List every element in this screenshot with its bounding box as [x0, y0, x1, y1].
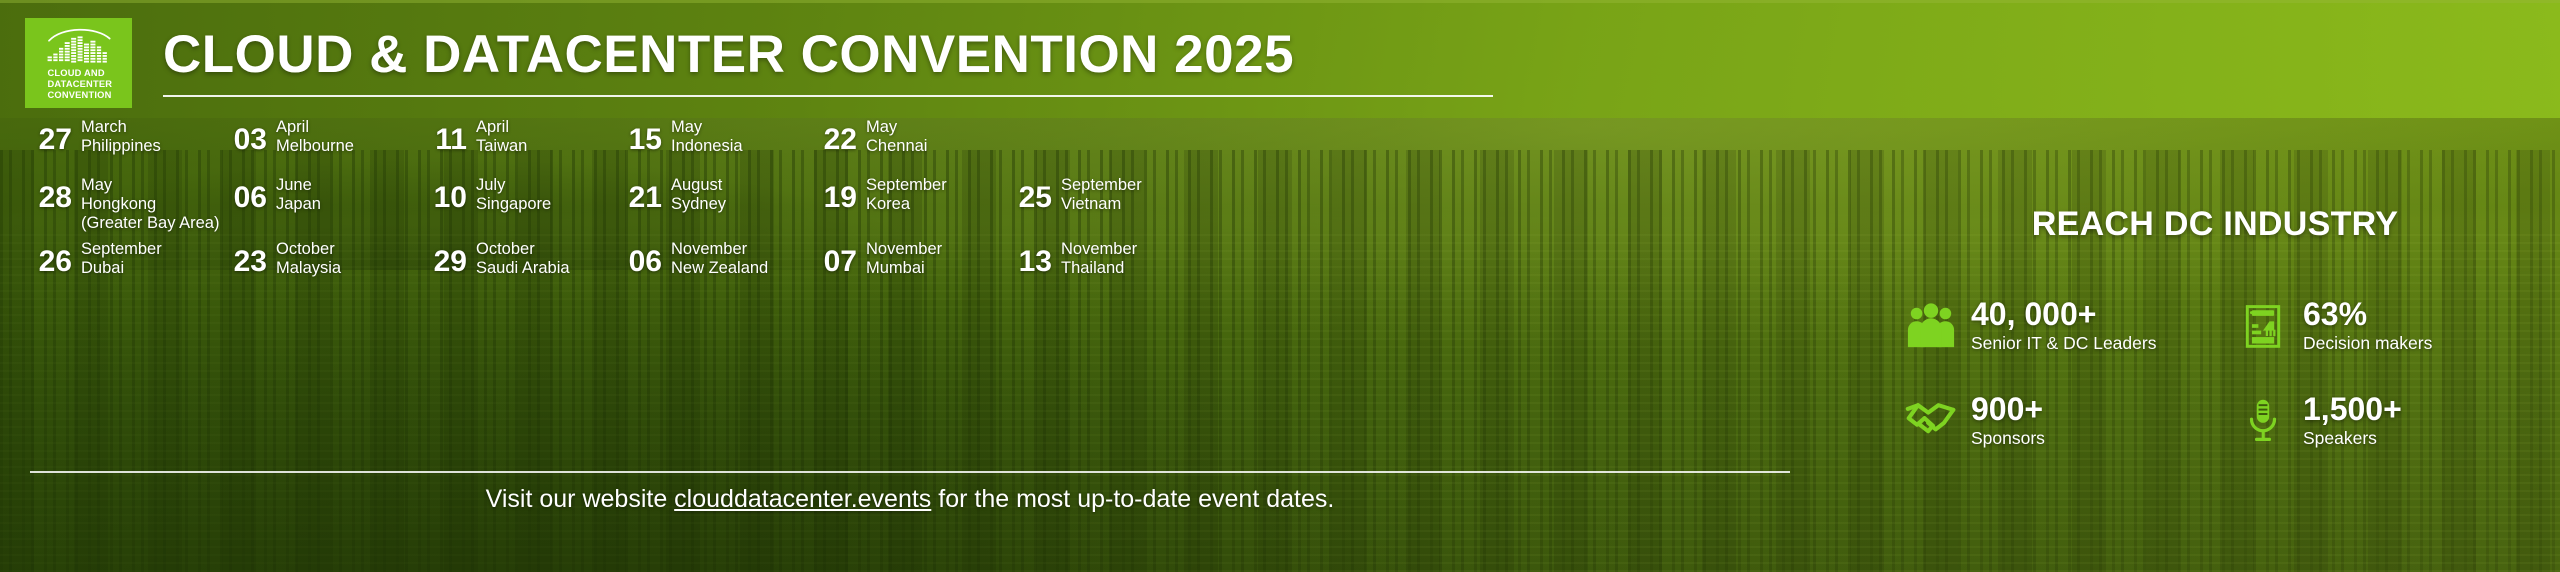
- event-city: Indonesia: [671, 137, 743, 156]
- event-day: 15: [620, 118, 662, 155]
- event-date-item: 19SeptemberKorea: [815, 176, 947, 214]
- event-date-item: 27MarchPhilippines: [30, 118, 161, 156]
- reach-stat-label: Senior IT & DC Leaders: [1971, 334, 2156, 353]
- event-city: Sydney: [671, 195, 726, 214]
- event-location: AprilTaiwan: [476, 118, 527, 156]
- event-date-item: 03AprilMelbourne: [225, 118, 354, 156]
- footer-note: Visit our website clouddatacenter.events…: [30, 484, 1790, 516]
- event-city: Thailand: [1061, 259, 1137, 278]
- event-day: 28: [30, 176, 72, 213]
- event-day: 10: [425, 176, 467, 213]
- people-group-icon: [1905, 300, 1957, 352]
- event-month: October: [276, 240, 341, 259]
- brand-logo-text: CLOUD AND DATACENTER CONVENTION: [48, 68, 110, 101]
- event-day: 07: [815, 240, 857, 277]
- footer-divider: [30, 471, 1790, 473]
- reach-stat: 40, 000+Senior IT & DC Leaders: [1905, 278, 2237, 373]
- event-month: November: [866, 240, 942, 259]
- event-month: April: [276, 118, 354, 137]
- event-month: June: [276, 176, 321, 195]
- event-day: 27: [30, 118, 72, 155]
- reach-stat: 63%Decision makers: [2237, 278, 2545, 373]
- event-month: October: [476, 240, 570, 259]
- event-date-item: 06NovemberNew Zealand: [620, 240, 768, 278]
- event-city: Saudi Arabia: [476, 259, 570, 278]
- event-day: 11: [425, 118, 467, 155]
- event-date-item: 23OctoberMalaysia: [225, 240, 341, 278]
- page-title: CLOUD & DATACENTER CONVENTION 2025: [163, 24, 1294, 85]
- logo-line-3: CONVENTION: [48, 90, 112, 100]
- event-location: SeptemberDubai: [81, 240, 162, 278]
- event-date-item: 29OctoberSaudi Arabia: [425, 240, 570, 278]
- event-month: August: [671, 176, 726, 195]
- event-location: SeptemberVietnam: [1061, 176, 1142, 214]
- event-location: NovemberThailand: [1061, 240, 1137, 278]
- reach-stat-number: 63%: [2303, 297, 2432, 332]
- event-month: November: [671, 240, 768, 259]
- event-city: Philippines: [81, 137, 161, 156]
- title-divider: [163, 95, 1493, 97]
- event-month: May: [81, 176, 219, 195]
- event-city: Dubai: [81, 259, 162, 278]
- event-city: Korea: [866, 195, 947, 214]
- event-city: Hongkong: [81, 195, 219, 214]
- event-day: 06: [225, 176, 267, 213]
- event-date-item: 28MayHongkong(Greater Bay Area): [30, 176, 219, 233]
- event-location: AugustSydney: [671, 176, 726, 214]
- event-day: 29: [425, 240, 467, 277]
- event-month: July: [476, 176, 551, 195]
- event-date-item: 10JulySingapore: [425, 176, 551, 214]
- event-city: Taiwan: [476, 137, 527, 156]
- event-city: Melbourne: [276, 137, 354, 156]
- event-city: Mumbai: [866, 259, 942, 278]
- reach-stat-number: 900+: [1971, 392, 2045, 427]
- event-location: OctoberMalaysia: [276, 240, 341, 278]
- event-city: Japan: [276, 195, 321, 214]
- reach-stats: 40, 000+Senior IT & DC Leaders63%Decisio…: [1905, 278, 2545, 468]
- event-city: Singapore: [476, 195, 551, 214]
- event-day: 06: [620, 240, 662, 277]
- microphone-icon: [2237, 395, 2289, 447]
- brand-logo[interactable]: CLOUD AND DATACENTER CONVENTION: [25, 18, 132, 108]
- event-location: JuneJapan: [276, 176, 321, 214]
- event-day: 25: [1010, 176, 1052, 213]
- event-day: 03: [225, 118, 267, 155]
- reach-stat-text: 900+Sponsors: [1971, 392, 2045, 448]
- event-month: April: [476, 118, 527, 137]
- event-month: November: [1061, 240, 1137, 259]
- event-location: JulySingapore: [476, 176, 551, 214]
- event-date-item: 15MayIndonesia: [620, 118, 743, 156]
- event-location: AprilMelbourne: [276, 118, 354, 156]
- event-date-item: 25SeptemberVietnam: [1010, 176, 1142, 214]
- event-location: OctoberSaudi Arabia: [476, 240, 570, 278]
- event-city: Vietnam: [1061, 195, 1142, 214]
- event-location: MayChennai: [866, 118, 927, 156]
- event-month: May: [866, 118, 927, 137]
- event-location: NovemberMumbai: [866, 240, 942, 278]
- reach-stat-label: Speakers: [2303, 429, 2402, 448]
- reach-stat-number: 40, 000+: [1971, 297, 2156, 332]
- skyline-bars-logo-icon: [43, 25, 115, 65]
- event-city-sub: (Greater Bay Area): [81, 214, 219, 233]
- reach-stat-label: Sponsors: [1971, 429, 2045, 448]
- reach-stat-text: 1,500+Speakers: [2303, 392, 2402, 448]
- reach-stat-label: Decision makers: [2303, 334, 2432, 353]
- event-location: MayHongkong(Greater Bay Area): [81, 176, 219, 233]
- reach-stat: 900+Sponsors: [1905, 373, 2237, 468]
- event-city: Chennai: [866, 137, 927, 156]
- event-day: 13: [1010, 240, 1052, 277]
- logo-line-1: CLOUD AND: [48, 68, 105, 78]
- event-date-item: 13NovemberThailand: [1010, 240, 1137, 278]
- event-day: 22: [815, 118, 857, 155]
- event-day: 23: [225, 240, 267, 277]
- reach-stat-text: 63%Decision makers: [2303, 297, 2432, 353]
- reach-heading: REACH DC INDUSTRY: [1925, 205, 2505, 244]
- event-month: May: [671, 118, 743, 137]
- event-date-item: 21AugustSydney: [620, 176, 726, 214]
- event-city: New Zealand: [671, 259, 768, 278]
- website-link[interactable]: clouddatacenter.events: [674, 485, 931, 513]
- exhibition-booth-icon: [2237, 300, 2289, 352]
- event-month: September: [81, 240, 162, 259]
- event-location: NovemberNew Zealand: [671, 240, 768, 278]
- event-month: September: [1061, 176, 1142, 195]
- event-location: SeptemberKorea: [866, 176, 947, 214]
- event-date-item: 06JuneJapan: [225, 176, 321, 214]
- event-day: 19: [815, 176, 857, 213]
- event-day: 26: [30, 240, 72, 277]
- event-date-item: 11AprilTaiwan: [425, 118, 527, 156]
- event-date-item: 07NovemberMumbai: [815, 240, 942, 278]
- event-date-item: 26SeptemberDubai: [30, 240, 162, 278]
- reach-stat: 1,500+Speakers: [2237, 373, 2545, 468]
- footer-prefix: Visit our website: [486, 485, 675, 513]
- event-day: 21: [620, 176, 662, 213]
- event-banner: CLOUD AND DATACENTER CONVENTION CLOUD & …: [0, 0, 2560, 572]
- event-location: MayIndonesia: [671, 118, 743, 156]
- event-location: MarchPhilippines: [81, 118, 161, 156]
- footer-suffix: for the most up-to-date event dates.: [931, 485, 1334, 513]
- handshake-icon: [1905, 395, 1957, 447]
- event-date-item: 22MayChennai: [815, 118, 927, 156]
- event-city: Malaysia: [276, 259, 341, 278]
- logo-line-2: DATACENTER: [48, 79, 113, 89]
- event-month: September: [866, 176, 947, 195]
- event-month: March: [81, 118, 161, 137]
- reach-stat-number: 1,500+: [2303, 392, 2402, 427]
- reach-stat-text: 40, 000+Senior IT & DC Leaders: [1971, 297, 2156, 353]
